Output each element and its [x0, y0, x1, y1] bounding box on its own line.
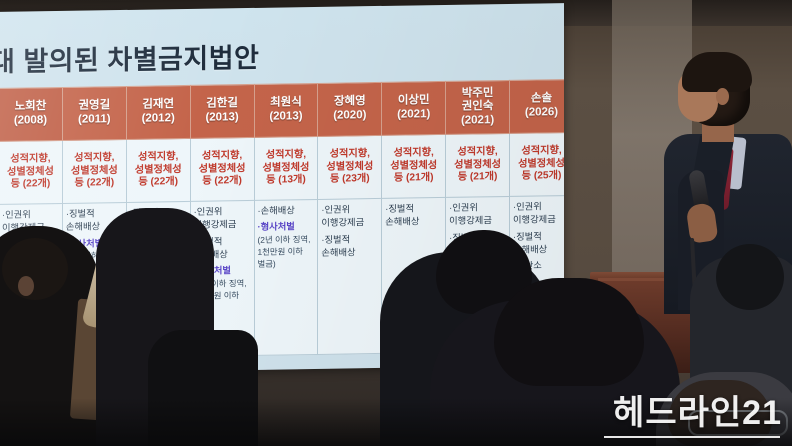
grounds-line2-6: 성별정체성 — [390, 160, 437, 172]
proposer-year-7: (2021) — [461, 114, 494, 127]
grounds-cell-1: 성적지향, 성별정체성 등 (22개) — [62, 139, 126, 203]
remedy-penalty-4-0: (2년 이하 징역, — [258, 234, 315, 246]
remedy-item-0-0: ·인권위 — [2, 208, 59, 221]
grounds-line2-3: 성별정체성 — [199, 163, 246, 175]
grounds-line3-3: 등 (22개) — [202, 176, 242, 188]
audience-head-right — [716, 244, 784, 310]
grounds-line3-6: 등 (21개) — [394, 173, 434, 185]
col-header-5: 장혜영 (2020) — [318, 82, 382, 136]
proposer-year-2: (2012) — [142, 112, 175, 125]
col-header-1: 권영길 (2011) — [62, 86, 126, 140]
proposer-year-8: (2026) — [525, 106, 558, 119]
grounds-line1-6: 성적지향, — [394, 147, 434, 159]
remedy-item-8-2: ·징벌적 — [513, 230, 564, 243]
remedy-item-8-0: ·인권위 — [513, 200, 564, 213]
proposer-name-7: 박주민권인숙 — [462, 87, 494, 113]
presenter-hair — [682, 52, 752, 92]
proposer-name-2: 김재연 — [142, 99, 174, 111]
grounds-cell-7: 성적지향, 성별정체성 등 (21개) — [446, 133, 510, 197]
grounds-cell-4: 성적지향, 성별정체성 등 (13개) — [254, 136, 318, 200]
grounds-line1-0: 성적지향, — [10, 153, 50, 165]
grounds-line3-1: 등 (22개) — [74, 178, 114, 190]
grounds-line2-7: 성별정체성 — [454, 159, 501, 171]
remedy-item-8-1: 이행강제금 — [513, 213, 564, 226]
grounds-cell-8: 성적지향, 성별정체성 등 (25개) — [510, 132, 565, 196]
proposer-name-6: 이상민 — [398, 95, 430, 107]
grounds-line2-5: 성별정체성 — [326, 161, 373, 173]
grounds-line1-7: 성적지향, — [457, 146, 497, 158]
grounds-line1-1: 성적지향, — [74, 152, 114, 164]
grounds-line3-4: 등 (13개) — [266, 175, 306, 187]
col-header-2: 김재연 (2012) — [126, 85, 190, 139]
grounds-cell-0: 성적지향, 성별정체성 등 (22개) — [0, 140, 62, 204]
proposer-year-1: (2011) — [78, 113, 111, 126]
remedy-item-5-2: ·징벌적 — [321, 233, 378, 246]
grounds-line3-2: 등 (22개) — [138, 177, 178, 189]
remedy-item-5-0: ·인권위 — [321, 203, 378, 216]
remedy-item-6-0: ·징벌적 — [385, 202, 442, 215]
remedy-item-7-0: ·인권위 — [449, 201, 506, 214]
proposer-year-3: (2013) — [205, 111, 238, 124]
grounds-line3-7: 등 (21개) — [458, 171, 498, 183]
remedy-penalty-4-2: 벌금) — [258, 258, 315, 270]
audience-ear-left — [18, 276, 34, 296]
col-header-8: 손솔 (2026) — [510, 79, 565, 133]
remedy-penalty-4-1: 1천만원 이하 — [258, 246, 315, 258]
grounds-cell-6: 성적지향, 성별정체성 등 (21개) — [382, 134, 446, 198]
grounds-cell-3: 성적지향, 성별정체성 등 (22개) — [190, 137, 254, 201]
col-header-7: 박주민권인숙 (2021) — [446, 80, 510, 134]
audience-head-left — [2, 238, 68, 300]
col-header-3: 김한길 (2013) — [190, 84, 254, 138]
grounds-line2-1: 성별정체성 — [71, 165, 118, 177]
grounds-line3-5: 등 (23개) — [330, 174, 370, 186]
remedy-item-3-0: ·인권위 — [194, 205, 251, 218]
remedies-cell-4: ·손해배상 ·형사처벌 (2년 이하 징역, 1천만원 이하 벌금) — [254, 199, 318, 355]
proposer-year-4: (2013) — [269, 110, 302, 123]
proposer-name-3: 김한길 — [206, 98, 238, 110]
remedy-item-6-1: 손해배상 — [385, 215, 442, 228]
slide-title: 대 발의된 차별금지법안 — [0, 35, 290, 79]
grounds-line1-4: 성적지향, — [266, 149, 306, 161]
grounds-line2-8: 성별정체성 — [518, 158, 564, 170]
grounds-line3-0: 등 (22개) — [11, 179, 51, 191]
remedy-item-5-3: 손해배상 — [321, 246, 378, 259]
grounds-line2-0: 성별정체성 — [7, 166, 54, 178]
col-header-4: 최원식 (2013) — [254, 83, 318, 137]
screenshot-root: 대 발의된 차별금지법안 노회찬 (2008) 권영길 (2011) 김재연 (… — [0, 0, 792, 446]
grounds-line1-5: 성적지향, — [330, 148, 370, 160]
proposer-year-0: (2008) — [14, 114, 47, 127]
audience-head-front — [494, 278, 644, 386]
remedy-item-4-0: ·손해배상 — [258, 204, 315, 217]
proposer-name-8: 손솔 — [531, 93, 552, 105]
proposer-name-0: 노회찬 — [15, 101, 47, 113]
grounds-cell-5: 성적지향, 성별정체성 등 (23개) — [318, 135, 382, 199]
grounds-line2-4: 성별정체성 — [263, 162, 310, 174]
grounds-line1-3: 성적지향, — [202, 150, 242, 162]
proposer-name-4: 최원식 — [270, 97, 302, 109]
remedy-item-7-1: 이행강제금 — [449, 214, 506, 227]
proposer-year-5: (2020) — [333, 109, 366, 122]
grounds-line3-8: 등 (25개) — [522, 170, 562, 182]
watermark-underline — [604, 436, 780, 438]
remedy-item-5-1: 이행강제금 — [321, 216, 378, 229]
proposer-year-6: (2021) — [397, 108, 430, 121]
remedy-highlight-4: ·형사처벌 — [258, 220, 315, 233]
watermark: 헤드라인21 — [613, 385, 782, 434]
remedies-cell-5: ·인권위 이행강제금 ·징벌적 손해배상 — [318, 198, 382, 354]
grounds-line1-8: 성적지향, — [521, 145, 561, 157]
col-header-6: 이상민 (2021) — [382, 81, 446, 135]
proposer-name-1: 권영길 — [78, 100, 110, 112]
proposer-name-5: 장혜영 — [334, 96, 366, 108]
grounds-line2-2: 성별정체성 — [135, 164, 182, 176]
table-header-row: 노회찬 (2008) 권영길 (2011) 김재연 (2012) 김한길 (20… — [0, 79, 564, 141]
grounds-row: 성적지향, 성별정체성 등 (22개) 성적지향, 성별정체성 등 (22개) … — [0, 132, 564, 204]
col-header-0: 노회찬 (2008) — [0, 87, 62, 141]
grounds-line1-2: 성적지향, — [138, 151, 178, 163]
presenter-ear — [716, 88, 729, 105]
grounds-cell-2: 성적지향, 성별정체성 등 (22개) — [126, 138, 190, 202]
